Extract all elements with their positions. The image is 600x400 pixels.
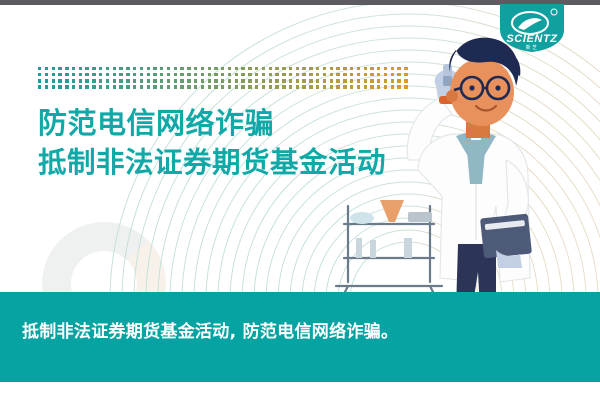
dot (119, 79, 122, 82)
dot (187, 73, 190, 76)
dot (160, 79, 163, 82)
dot (208, 79, 211, 82)
dot (85, 73, 88, 76)
dot (147, 73, 150, 76)
dot-row (38, 67, 278, 71)
dot (228, 79, 231, 82)
dot-grid-decoration (38, 67, 278, 89)
dot (106, 79, 109, 82)
dot (255, 79, 258, 82)
dot (187, 79, 190, 82)
dot (45, 85, 48, 88)
dot (85, 85, 88, 88)
dot (289, 73, 292, 76)
dot (275, 73, 278, 76)
dot (180, 67, 183, 70)
dot (167, 73, 170, 76)
dot (58, 67, 61, 70)
dot (174, 73, 177, 76)
dot (194, 67, 197, 70)
dot (113, 73, 116, 76)
dot (282, 67, 285, 70)
dot (119, 67, 122, 70)
dot (147, 79, 150, 82)
dot (126, 73, 129, 76)
dot (133, 67, 136, 70)
dot (133, 79, 136, 82)
dot-row (38, 73, 278, 77)
dot (58, 79, 61, 82)
dot (65, 67, 68, 70)
dot (194, 85, 197, 88)
dot (180, 79, 183, 82)
banner-slogan: 抵制非法证券期货基金活动, 防范电信网络诈骗。 (22, 320, 398, 344)
dot (140, 85, 143, 88)
funnel (380, 200, 404, 222)
dot (255, 67, 258, 70)
dot (262, 85, 265, 88)
dot (153, 85, 156, 88)
dot (208, 73, 211, 76)
dot (269, 85, 272, 88)
dot (106, 67, 109, 70)
dot (180, 73, 183, 76)
dot (214, 67, 217, 70)
dot (269, 73, 272, 76)
dot (214, 85, 217, 88)
dot (221, 79, 224, 82)
dot (99, 73, 102, 76)
dot (45, 73, 48, 76)
dot (119, 73, 122, 76)
eye-right (495, 85, 500, 90)
dot (235, 67, 238, 70)
dot (133, 85, 136, 88)
dot (45, 67, 48, 70)
dot (228, 67, 231, 70)
dot (153, 79, 156, 82)
dot (208, 67, 211, 70)
dot (99, 85, 102, 88)
dot (248, 67, 251, 70)
dot (289, 79, 292, 82)
dot (92, 67, 95, 70)
dot (187, 85, 190, 88)
dot (153, 67, 156, 70)
dot (275, 85, 278, 88)
dot (153, 73, 156, 76)
dot (174, 67, 177, 70)
dot (214, 73, 217, 76)
dot (38, 85, 41, 88)
dot (241, 73, 244, 76)
dot-row (38, 85, 278, 89)
dot (65, 85, 68, 88)
dot (85, 67, 88, 70)
dot (38, 79, 41, 82)
dot (167, 85, 170, 88)
clipboard (480, 214, 532, 259)
dot (194, 79, 197, 82)
dot (79, 85, 82, 88)
dot (106, 85, 109, 88)
dot (160, 67, 163, 70)
dot (296, 73, 299, 76)
dot (174, 85, 177, 88)
poster-canvas: 防范电信网络诈骗 抵制非法证券期货基金活动 (0, 0, 600, 400)
dot (160, 85, 163, 88)
dot (72, 85, 75, 88)
dot (52, 85, 55, 88)
dot (296, 85, 299, 88)
dot (221, 67, 224, 70)
dot (248, 73, 251, 76)
dot (92, 73, 95, 76)
test-tube-rack-c (404, 238, 412, 258)
dot (147, 85, 150, 88)
dot (58, 85, 61, 88)
dot (58, 73, 61, 76)
dot (38, 73, 41, 76)
scientist-illustration (300, 10, 600, 310)
dot (201, 73, 204, 76)
dot (113, 85, 116, 88)
dot (241, 79, 244, 82)
dot (282, 79, 285, 82)
dot (201, 79, 204, 82)
dot (241, 85, 244, 88)
dot (296, 79, 299, 82)
dot (72, 73, 75, 76)
dot (72, 67, 75, 70)
dot (221, 73, 224, 76)
dot (106, 73, 109, 76)
dot (235, 79, 238, 82)
dot (296, 67, 299, 70)
dot (160, 73, 163, 76)
dot (282, 85, 285, 88)
dot (85, 79, 88, 82)
dot (174, 79, 177, 82)
bottom-banner: 抵制非法证券期货基金活动, 防范电信网络诈骗。 (0, 292, 600, 382)
dot (79, 67, 82, 70)
dot (194, 73, 197, 76)
dot (133, 73, 136, 76)
dot (167, 79, 170, 82)
dot (113, 67, 116, 70)
dot (180, 85, 183, 88)
dot (208, 85, 211, 88)
dot (126, 67, 129, 70)
dot (72, 79, 75, 82)
dot (235, 73, 238, 76)
dot (228, 73, 231, 76)
dot (45, 79, 48, 82)
logo-chinese-text: 新芝 (526, 44, 539, 51)
dot (282, 73, 285, 76)
dot (126, 85, 129, 88)
dot (38, 67, 41, 70)
dot (140, 73, 143, 76)
dot (201, 85, 204, 88)
dot (147, 67, 150, 70)
dot (255, 73, 258, 76)
dot (92, 79, 95, 82)
dot (99, 79, 102, 82)
dot (140, 79, 143, 82)
test-tube-rack-a (356, 238, 362, 258)
dot (289, 85, 292, 88)
dot-row (38, 79, 278, 83)
dot (92, 85, 95, 88)
dot (228, 85, 231, 88)
dot (269, 79, 272, 82)
dot (113, 79, 116, 82)
dot (235, 85, 238, 88)
dot (214, 79, 217, 82)
dot (248, 79, 251, 82)
dot (201, 67, 204, 70)
dot (52, 73, 55, 76)
dot (221, 85, 224, 88)
dot (65, 73, 68, 76)
scientz-shield-logo: SCIENTZ 新芝 (494, 4, 570, 52)
dot (262, 73, 265, 76)
dot (52, 67, 55, 70)
dot (262, 67, 265, 70)
dot (275, 79, 278, 82)
dot (52, 79, 55, 82)
ear (446, 90, 458, 102)
dot (119, 85, 122, 88)
dot (241, 67, 244, 70)
dot (187, 67, 190, 70)
dot (79, 73, 82, 76)
dot (65, 79, 68, 82)
bottom-white-strip (0, 382, 600, 400)
dot (269, 67, 272, 70)
dot (255, 85, 258, 88)
dot (167, 67, 170, 70)
dot (126, 79, 129, 82)
dot (99, 67, 102, 70)
tray (408, 212, 432, 222)
dot (248, 85, 251, 88)
logo-latin-text: SCIENTZ (506, 33, 558, 45)
beaker-dish (350, 212, 374, 224)
dot (275, 67, 278, 70)
dot (79, 79, 82, 82)
dot (140, 67, 143, 70)
dot (289, 67, 292, 70)
test-tube-rack-b (370, 240, 376, 258)
dot (262, 79, 265, 82)
eye-left (469, 85, 474, 90)
